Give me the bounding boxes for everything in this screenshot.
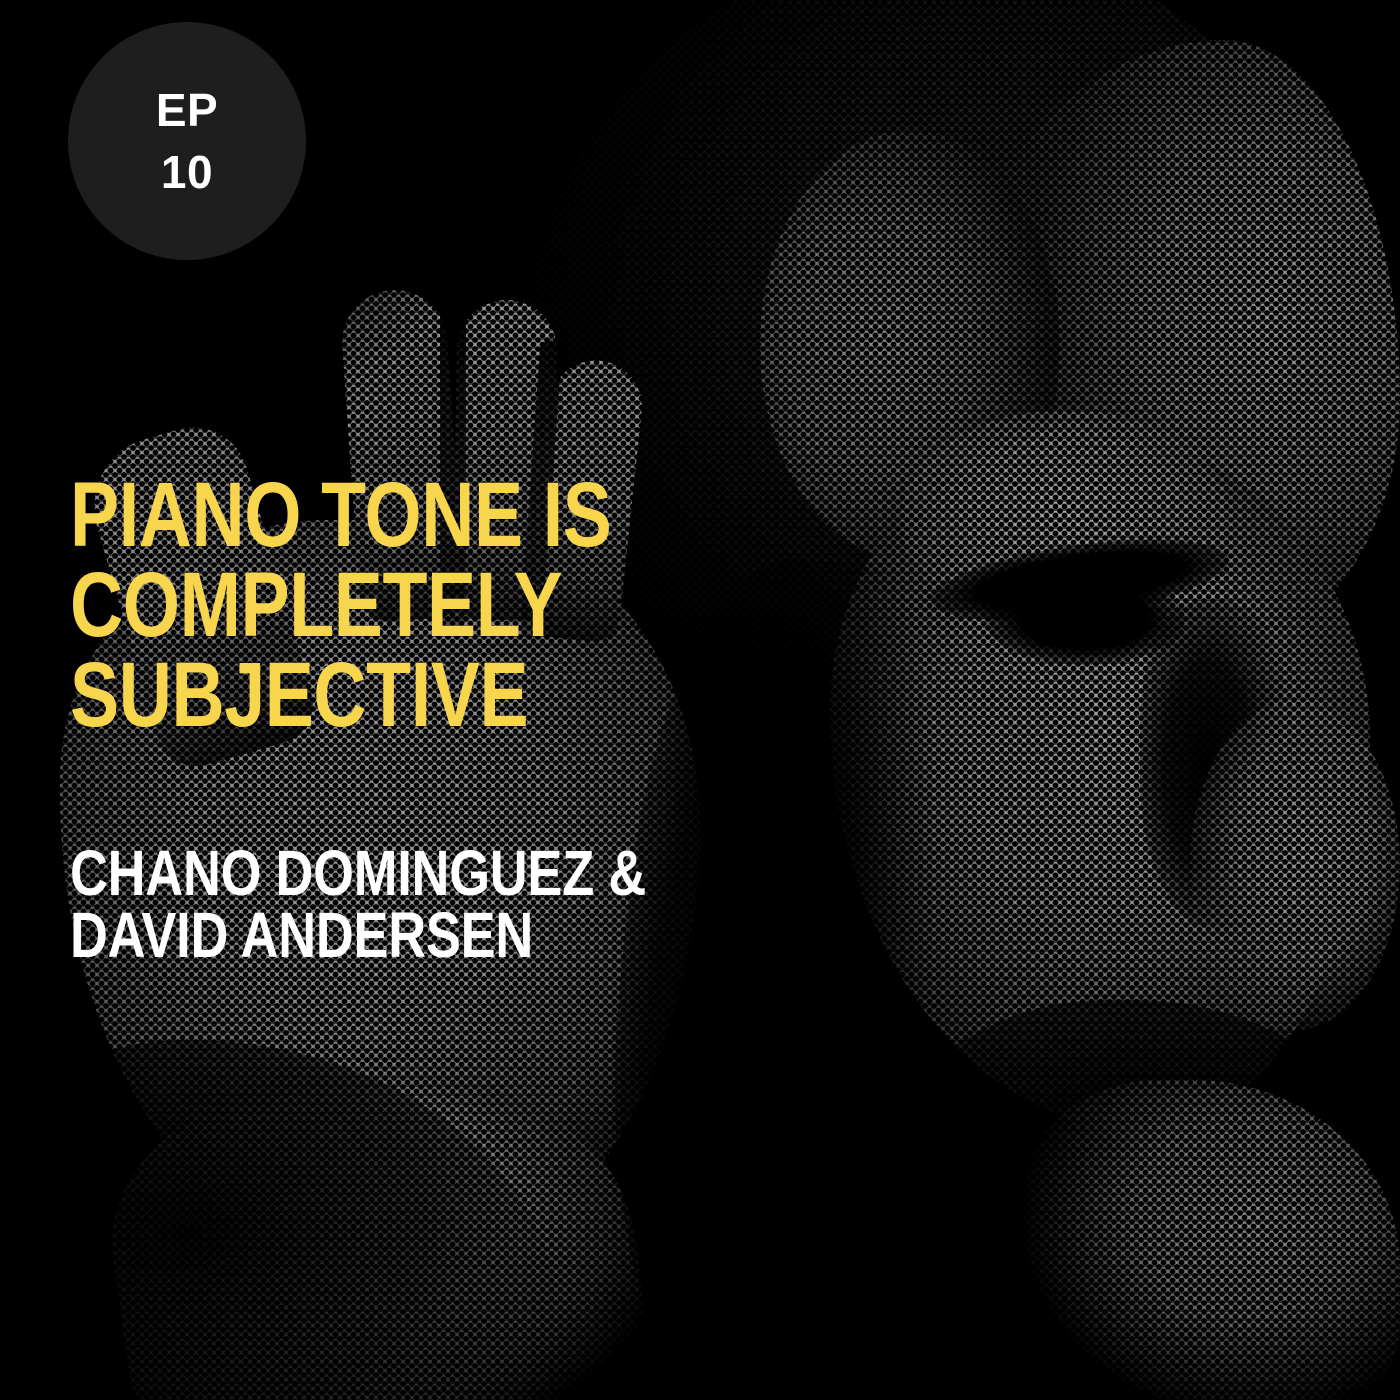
cheek-highlight xyxy=(1190,700,1400,1030)
ep-badge-number: 10 xyxy=(161,141,213,203)
episode-title-line-3: SUBJECTIVE xyxy=(70,650,726,740)
episode-title-line-2: COMPLETELY xyxy=(70,560,726,650)
ep-badge: EP 10 xyxy=(68,22,306,260)
episode-title: PIANO TONE IS COMPLETELY SUBJECTIVE xyxy=(70,470,890,740)
episode-title-line-1: PIANO TONE IS xyxy=(70,470,726,560)
episode-guests-line-2: DAVID ANDERSEN xyxy=(70,904,742,966)
episode-guests: CHANO DOMINGUEZ & DAVID ANDERSEN xyxy=(70,842,890,966)
episode-cover-artwork: EP 10 PIANO TONE IS COMPLETELY SUBJECTIV… xyxy=(0,0,1400,1400)
ep-badge-word: EP xyxy=(156,79,218,141)
episode-guests-line-1: CHANO DOMINGUEZ & xyxy=(70,842,742,904)
